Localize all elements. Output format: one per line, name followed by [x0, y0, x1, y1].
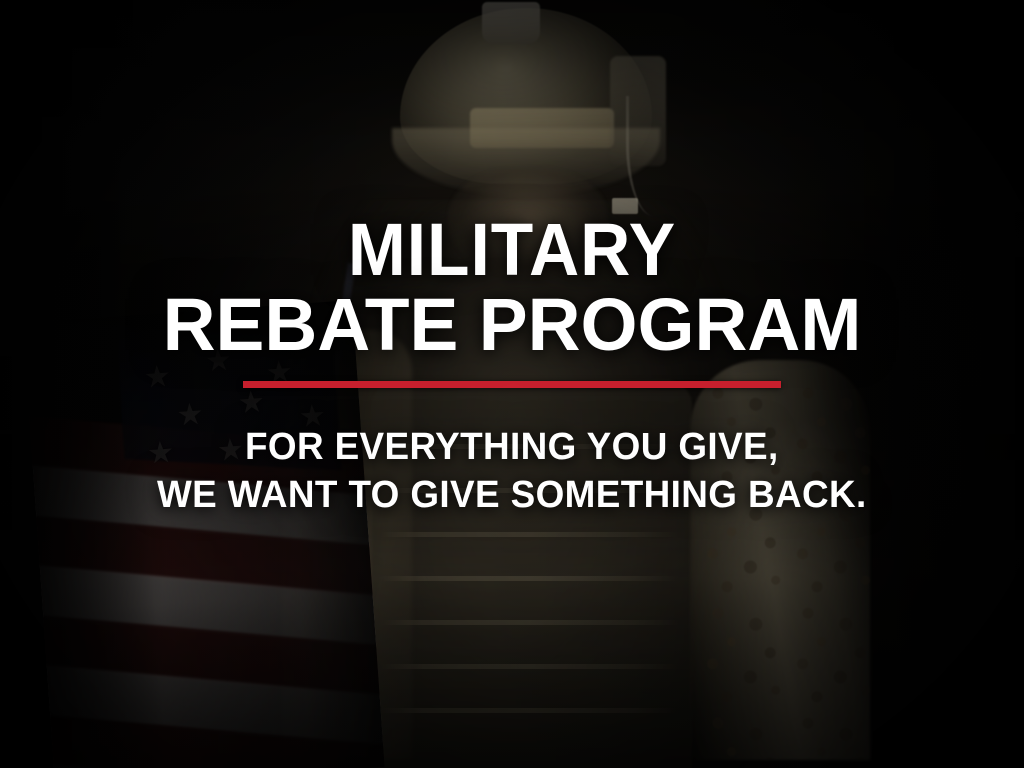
subheadline-line-2: WE WANT TO GIVE SOMETHING BACK. — [157, 472, 867, 520]
headline-line-2: REBATE PROGRAM — [5, 291, 1019, 360]
military-rebate-poster: MILITARY REBATE PROGRAM FOR EVERYTHING Y… — [0, 0, 1024, 768]
red-divider-rule — [243, 381, 781, 388]
subheadline-line-1: FOR EVERYTHING YOU GIVE, — [157, 424, 867, 472]
subheadline: FOR EVERYTHING YOU GIVE, WE WANT TO GIVE… — [157, 424, 867, 520]
poster-content: MILITARY REBATE PROGRAM FOR EVERYTHING Y… — [0, 0, 1024, 768]
headline-line-1: MILITARY — [31, 216, 994, 285]
